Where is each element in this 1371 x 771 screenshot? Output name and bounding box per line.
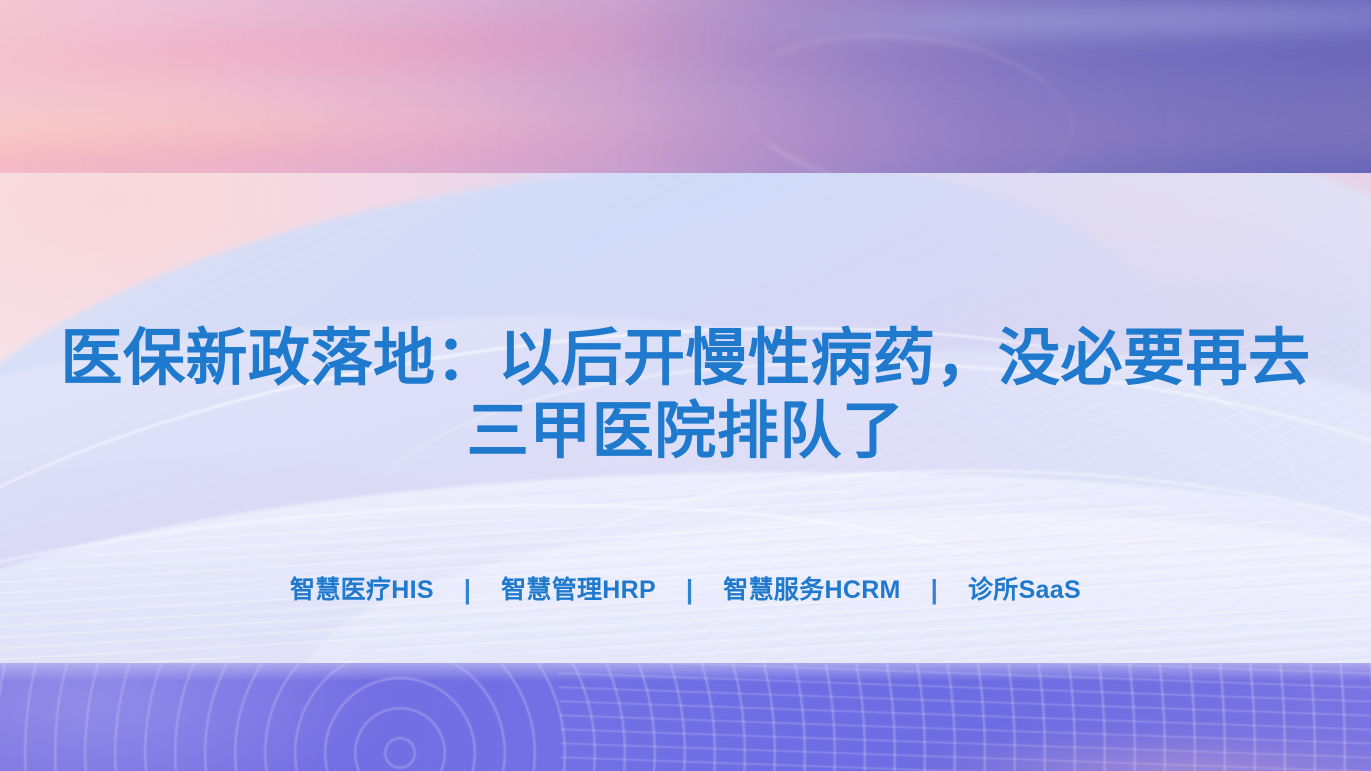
tagline-item-his: 智慧医疗HIS (290, 572, 434, 608)
title-line-2: 三甲医院排队了 (0, 395, 1371, 468)
page-title: 医保新政落地：以后开慢性病药，没必要再去 三甲医院排队了 (0, 322, 1371, 468)
tagline-separator: | (901, 571, 968, 610)
slide-content: 医保新政落地：以后开慢性病药，没必要再去 三甲医院排队了 智慧医疗HIS | 智… (0, 0, 1371, 771)
tagline-separator: | (434, 571, 501, 610)
product-tagline: 智慧医疗HIS | 智慧管理HRP | 智慧服务HCRM | 诊所SaaS (0, 572, 1371, 608)
presentation-slide: 医保新政落地：以后开慢性病药，没必要再去 三甲医院排队了 智慧医疗HIS | 智… (0, 0, 1371, 771)
tagline-separator: | (656, 571, 723, 610)
tagline-item-hcrm: 智慧服务HCRM (723, 572, 900, 608)
title-line-1: 医保新政落地：以后开慢性病药，没必要再去 (0, 322, 1371, 395)
tagline-item-saas: 诊所SaaS (968, 572, 1081, 608)
tagline-item-hrp: 智慧管理HRP (501, 572, 656, 608)
